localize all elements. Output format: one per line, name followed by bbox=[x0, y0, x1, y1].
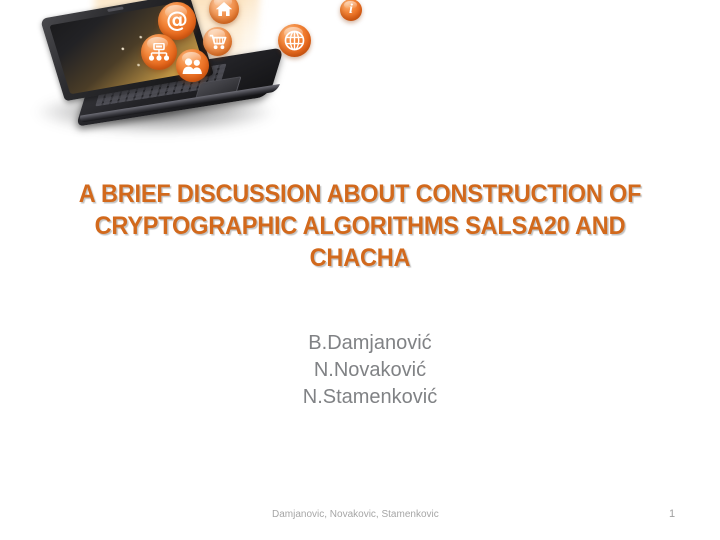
info-icon: i bbox=[340, 0, 362, 21]
author-name: N.Stamenković bbox=[160, 384, 580, 411]
author-name: B.Damjanović bbox=[160, 330, 580, 357]
hero-illustration: @ bbox=[0, 0, 400, 159]
author-list: B.Damjanović N.Novaković N.Stamenković bbox=[160, 330, 580, 411]
footer-text: Damjanovic, Novakovic, Stamenkovic bbox=[272, 509, 439, 520]
email-glyph: @ bbox=[166, 10, 188, 32]
slide-title-line-1: A BRIEF DISCUSSION ABOUT CONSTRUCTION OF bbox=[78, 178, 642, 210]
slide-title-line-3: CHACHA bbox=[78, 242, 642, 274]
presentation-slide: @ bbox=[0, 0, 720, 540]
laptop-webcam bbox=[107, 6, 124, 12]
sitemap-icon bbox=[141, 34, 177, 70]
slide-title-line-2: CRYPTOGRAPHIC ALGORITHMS SALSA20 AND bbox=[78, 210, 642, 242]
cart-icon bbox=[203, 27, 232, 56]
page-number: 1 bbox=[660, 508, 684, 520]
info-glyph: i bbox=[349, 3, 353, 17]
people-icon bbox=[176, 49, 209, 82]
author-name: N.Novaković bbox=[160, 357, 580, 384]
globe-icon bbox=[278, 24, 311, 57]
slide-title: A BRIEF DISCUSSION ABOUT CONSTRUCTION OF… bbox=[78, 178, 642, 274]
